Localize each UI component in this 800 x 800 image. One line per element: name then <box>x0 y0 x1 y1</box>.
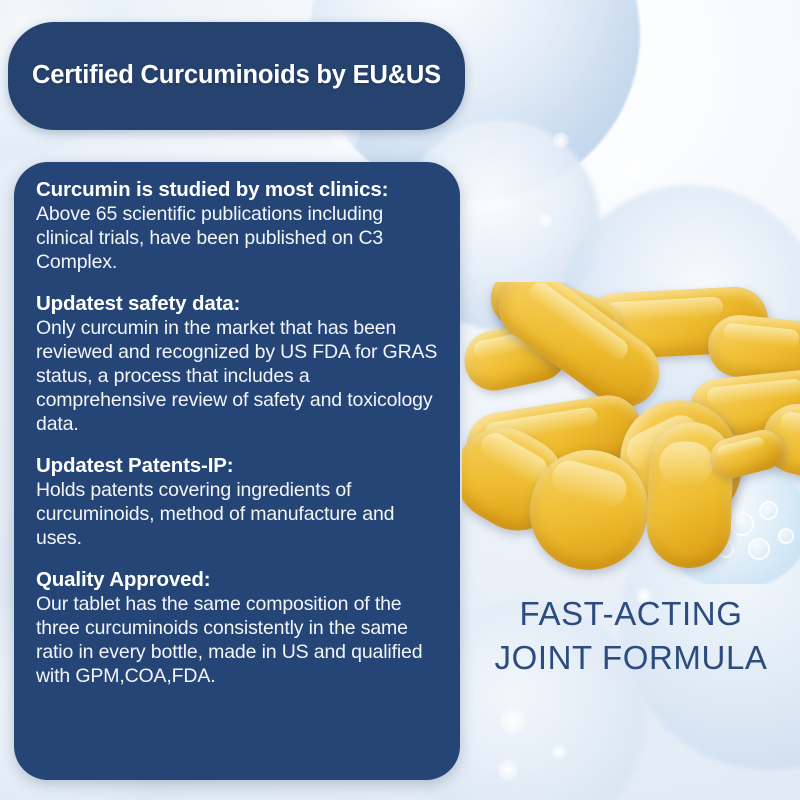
info-section-quality-approved: Quality Approved: Our tablet has the sam… <box>36 568 438 689</box>
section-body: Our tablet has the same composition of t… <box>36 593 438 689</box>
tagline-line-2: JOINT FORMULA <box>462 636 800 680</box>
info-section-clinics: Curcumin is studied by most clinics: Abo… <box>36 178 438 275</box>
info-section-safety-data: Updatest safety data: Only curcumin in t… <box>36 292 438 437</box>
section-heading: Updatest Patents-IP: <box>36 454 438 478</box>
section-heading: Updatest safety data: <box>36 292 438 316</box>
water-bubble <box>778 528 794 544</box>
product-infographic-poster: Certified Curcuminoids by EU&US Curcumin… <box>0 0 800 800</box>
water-bubble <box>759 501 778 520</box>
section-heading: Curcumin is studied by most clinics: <box>36 178 438 202</box>
water-bubble <box>730 512 754 536</box>
tagline: FAST-ACTING JOINT FORMULA <box>462 592 800 679</box>
tagline-line-1: FAST-ACTING <box>462 592 800 636</box>
water-bubble <box>748 538 770 560</box>
yellow-curcumin-tablets-photo <box>462 282 800 584</box>
section-body: Above 65 scientific publications includi… <box>36 203 438 275</box>
header-title: Certified Curcuminoids by EU&US <box>32 61 441 90</box>
info-section-patents-ip: Updatest Patents-IP: Holds patents cover… <box>36 454 438 551</box>
header-badge: Certified Curcuminoids by EU&US <box>8 22 465 130</box>
section-heading: Quality Approved: <box>36 568 438 592</box>
section-body: Only curcumin in the market that has bee… <box>36 317 438 437</box>
info-panel: Curcumin is studied by most clinics: Abo… <box>14 162 460 780</box>
section-body: Holds patents covering ingredients of cu… <box>36 479 438 551</box>
